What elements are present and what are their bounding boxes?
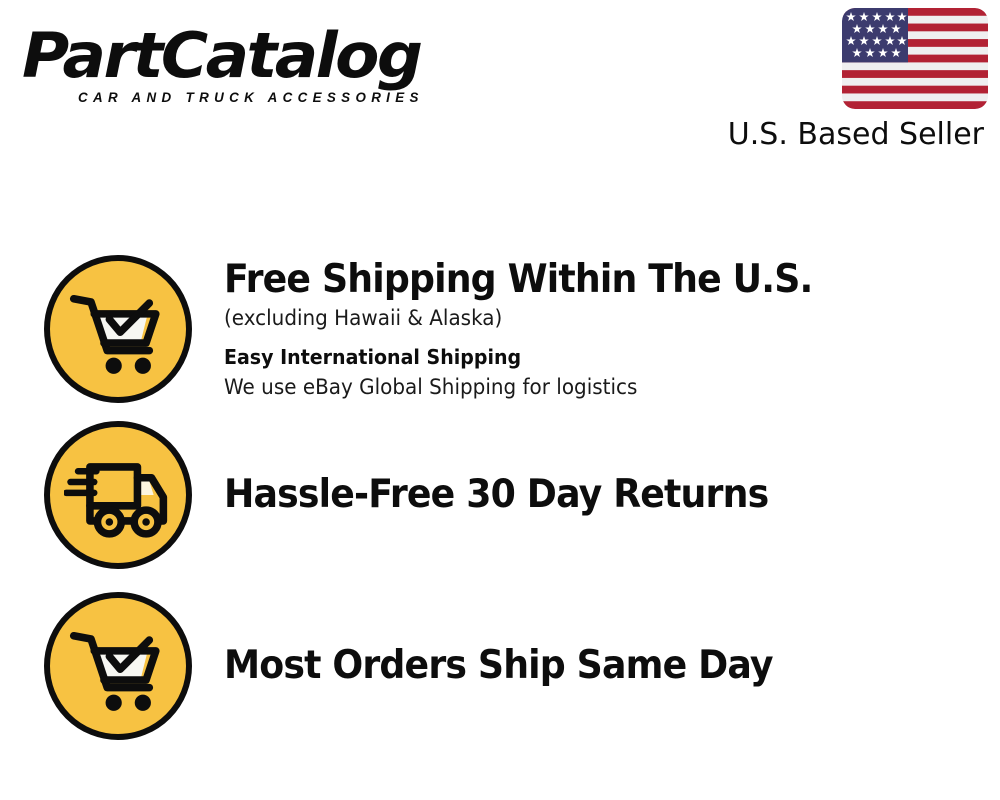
feature-row: Most Orders Ship Same Day [0,591,1000,741]
feature-text: Hassle-Free 30 Day Returns [224,472,1000,518]
feature-title: Hassle-Free 30 Day Returns [224,472,946,518]
feature-title: Free Shipping Within The U.S. [224,257,946,303]
banner-header: PartCatalog CAR AND TRUCK ACCESSORIES [0,0,1000,175]
feature-row: Hassle-Free 30 Day Returns [0,420,1000,570]
logo-tagline: CAR AND TRUCK ACCESSORIES [78,90,488,105]
shopping-cart-check-icon [44,592,192,740]
feature-title: Most Orders Ship Same Day [224,643,946,689]
feature-secondary-note: We use eBay Global Shipping for logistic… [224,372,961,402]
delivery-truck-icon [44,421,192,569]
feature-text: Most Orders Ship Same Day [224,643,1000,689]
us-flag-icon [842,8,988,109]
feature-secondary-title: Easy International Shipping [224,342,961,372]
brand-logo: PartCatalog CAR AND TRUCK ACCESSORIES [22,24,492,105]
feature-text: Free Shipping Within The U.S. (excluding… [224,257,1000,402]
shopping-cart-check-icon [44,255,192,403]
us-based-seller-label: U.S. Based Seller [688,118,984,152]
logo-wordmark: PartCatalog [22,24,511,88]
feature-row: Free Shipping Within The U.S. (excluding… [0,249,1000,409]
us-based-seller-badge: U.S. Based Seller [688,8,988,152]
feature-subtitle: (excluding Hawaii & Alaska) [224,303,961,333]
